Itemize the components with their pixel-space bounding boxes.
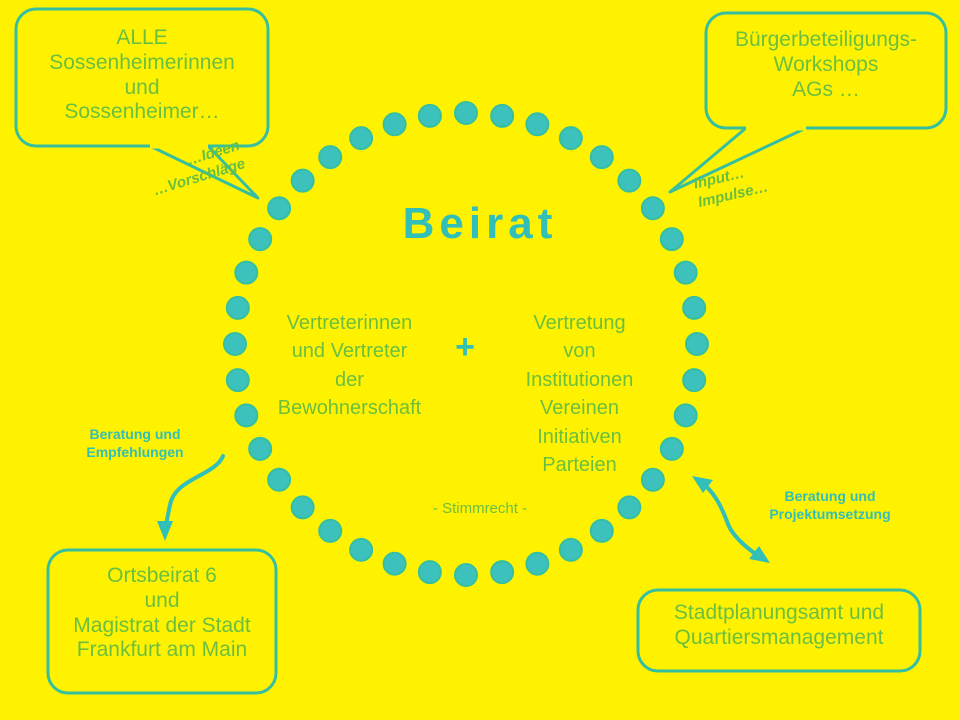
ring-dot [683, 297, 705, 319]
box-stadtplanungsamt-text: Stadtplanungsamt und Quartiersmanagement [638, 601, 920, 651]
center-column-bewohnerschaft: Vertreterinnen und Vertreter der Bewohne… [262, 309, 437, 423]
ring-dot [319, 520, 341, 542]
ring-dot [292, 170, 314, 192]
diagram-canvas: ALLE Sossenheimerinnen und Sossenheimer…… [0, 0, 960, 720]
ring-dot [249, 438, 271, 460]
speech-bubble-alle-sossenheimer-text: ALLE Sossenheimerinnen und Sossenheimer… [16, 26, 268, 125]
ring-dot [235, 262, 257, 284]
label-ideen-vorschlaege: …Ideen …Vorschläge [122, 137, 248, 208]
ring-dot [419, 105, 441, 127]
ring-dot [319, 146, 341, 168]
ring-dot [350, 127, 372, 149]
ring-dot [591, 146, 613, 168]
ring-dot [455, 564, 477, 586]
ring-dot [683, 369, 705, 391]
ring-dot [526, 553, 548, 575]
ring-dot [224, 333, 246, 355]
plus-icon: + [440, 330, 490, 364]
arrow-beratung-empfehlungen [157, 456, 223, 541]
ring-dot [227, 297, 249, 319]
ring-dot [491, 561, 513, 583]
ring-dot [686, 333, 708, 355]
ring-dot [675, 262, 697, 284]
ring-dot [526, 113, 548, 135]
ring-dot [560, 127, 582, 149]
page-title-beirat: Beirat [0, 199, 960, 249]
ring-dot [235, 404, 257, 426]
ring-dot [491, 105, 513, 127]
ring-dot [560, 539, 582, 561]
center-column-institutionen: Vertretung von Institutionen Vereinen In… [492, 309, 667, 479]
ring-dot [384, 113, 406, 135]
ring-dot [675, 404, 697, 426]
arrow-label-beratung-empfehlungen: Beratung und Empfehlungen [60, 425, 210, 461]
ring-dot [350, 539, 372, 561]
ring-dot [268, 469, 290, 491]
ring-dot [227, 369, 249, 391]
arrow-label-beratung-projektumsetzung: Beratung und Projektumsetzung [740, 487, 920, 523]
ring-dot [618, 170, 640, 192]
ring-dot [384, 553, 406, 575]
ring-dot [455, 102, 477, 124]
ring-dot [419, 561, 441, 583]
box-ortsbeirat-text: Ortsbeirat 6 und Magistrat der Stadt Fra… [48, 564, 276, 663]
speech-bubble-buergerbeteiligung-text: Bürgerbeteiligungs- Workshops AGs … [706, 28, 946, 102]
ring-dot [591, 520, 613, 542]
